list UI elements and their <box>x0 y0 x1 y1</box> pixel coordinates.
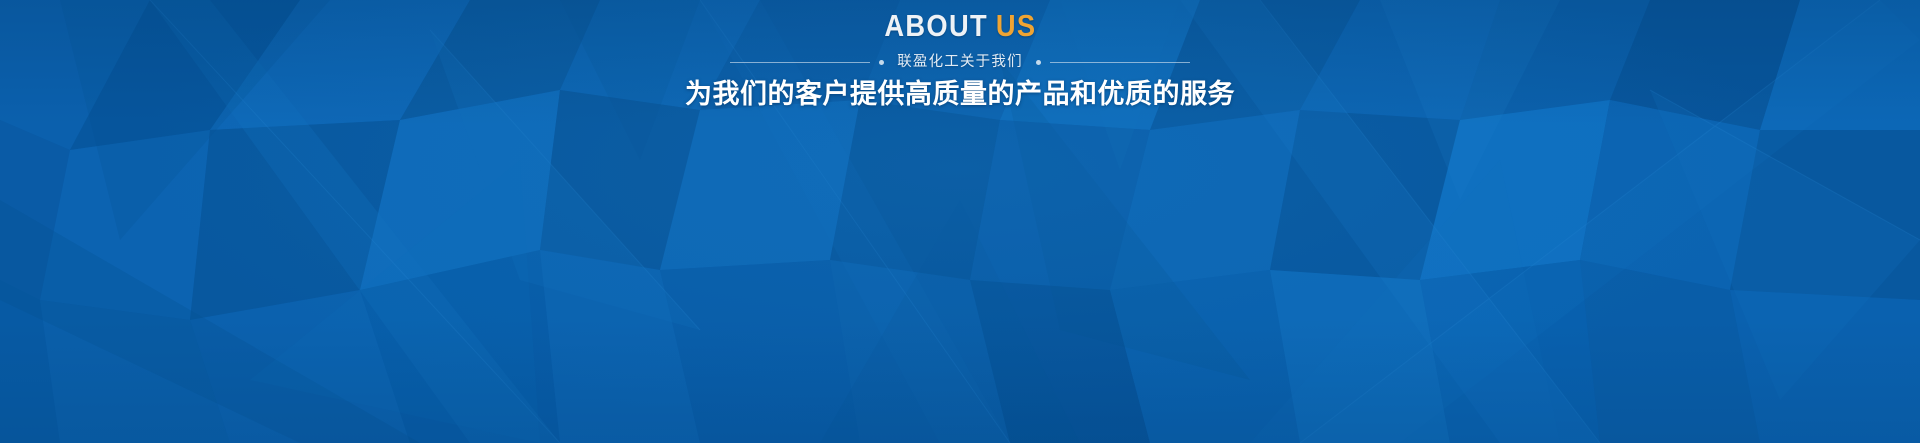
section-headline: 为我们的客户提供高质量的产品和优质的服务 <box>685 80 1235 110</box>
bullet-dot-icon-right <box>1036 60 1041 65</box>
eyebrow-word-us: US <box>995 8 1036 43</box>
section-eyebrow-title: ABOUTUS <box>884 10 1036 41</box>
about-us-banner: ABOUTUS 联盈化工关于我们 为我们的客户提供高质量的产品和优质的服务 <box>0 0 1920 443</box>
divider-rule-right <box>1050 62 1190 63</box>
eyebrow-word-about: ABOUT <box>884 8 988 43</box>
section-divider: 联盈化工关于我们 <box>730 53 1190 71</box>
banner-content: ABOUTUS 联盈化工关于我们 为我们的客户提供高质量的产品和优质的服务 <box>0 0 1920 120</box>
divider-rule-left <box>730 62 870 63</box>
bullet-dot-icon-left <box>879 60 884 65</box>
divider-subtitle-label: 联盈化工关于我们 <box>893 55 1027 70</box>
